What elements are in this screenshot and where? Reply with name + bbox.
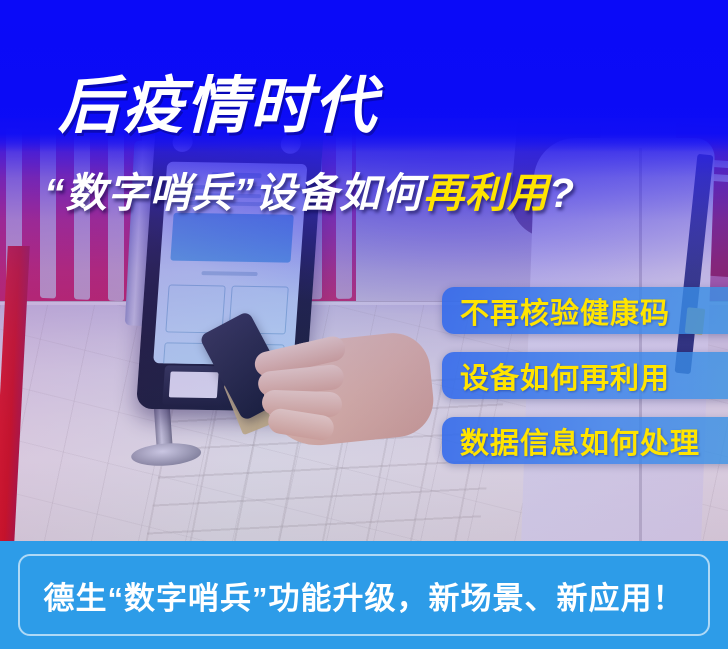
page-title: 后疫情时代 [58,76,378,138]
tag-item-device-reuse[interactable]: 设备如何再利用 [442,352,728,399]
poster-canvas: 后疫情时代 “数字哨兵”设备如何再利用? 不再核验健康码 设备如何再利用 数据信… [0,0,728,649]
footer-banner-text: 德生“数字哨兵”功能升级，新场景、新应用！ [44,573,685,618]
footer-banner-frame: 德生“数字哨兵”功能升级，新场景、新应用！ [18,554,710,636]
page-subtitle: “数字哨兵”设备如何再利用? [44,173,575,214]
hand-holding-phone [236,314,446,464]
tag-item-data-handling[interactable]: 数据信息如何处理 [442,417,728,464]
tag-item-health-code[interactable]: 不再核验健康码 [442,287,728,334]
subtitle-tail: ? [549,170,575,216]
tag-label: 设备如何再利用 [460,355,670,397]
subtitle-lead: “数字哨兵”设备如何 [44,170,423,216]
tag-label: 数据信息如何处理 [460,420,700,462]
subtitle-highlight: 再利用 [423,170,549,216]
tag-list: 不再核验健康码 设备如何再利用 数据信息如何处理 [442,287,728,482]
tag-label: 不再核验健康码 [460,290,670,332]
footer-banner: 德生“数字哨兵”功能升级，新场景、新应用！ [0,541,728,649]
